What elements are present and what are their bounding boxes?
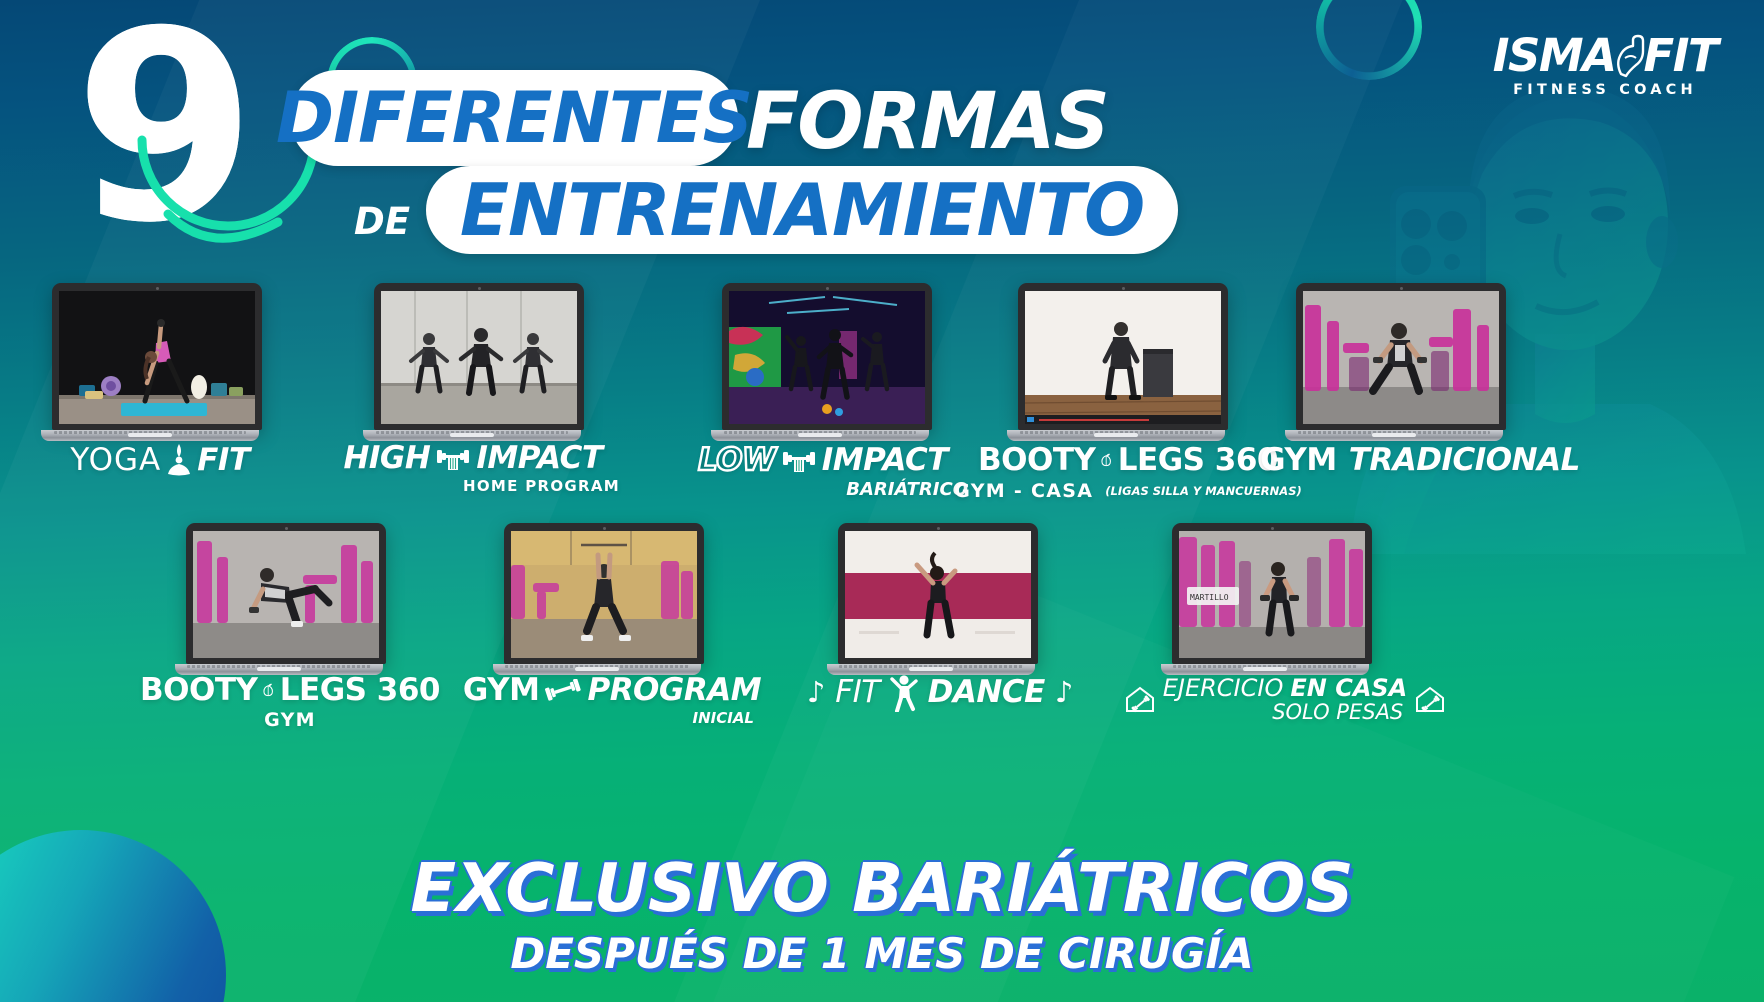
trackpad-notch [1094, 433, 1138, 437]
trackpad-notch [450, 433, 494, 437]
program-label-fit-dance: ♪ FIT DANCE ♪ [790, 672, 1090, 712]
headline-word-entrenamiento: ENTRENAMIENTO [460, 168, 1144, 252]
laptop-lid [1018, 283, 1228, 430]
headline: 9 DIFERENTES FORMAS DE ENTRENAMIENTO [74, 14, 1254, 254]
program-label-yoga-fit: YOGA FIT [10, 442, 310, 478]
program-label-gym-tradicional: GYM TRADICIONAL [1270, 442, 1570, 478]
svg-text:MARTILLO: MARTILLO [1190, 593, 1229, 602]
video-thumbnail-low-impact[interactable] [729, 291, 925, 424]
laptop-lid [504, 523, 704, 664]
bottom-banner: EXCLUSIVO BARIÁTRICOS DESPUÉS DE 1 MES D… [0, 849, 1764, 978]
trackpad-notch [1243, 667, 1287, 671]
program-title-plain: GYM [463, 672, 540, 708]
program-title-italic: EN CASA [1290, 674, 1407, 702]
program-title-plain: BOOTY [978, 442, 1095, 478]
laptop-lid [722, 283, 932, 430]
promotional-poster: 9 DIFERENTES FORMAS DE ENTRENAMIENTO ISM… [0, 0, 1764, 1002]
program-title-plain: EJERCICIO [1163, 674, 1284, 702]
video-thumbnail-gym-program[interactable] [511, 531, 697, 658]
program-label-booty-legs-360-gym: BOOTY LEGS 360 GYM [140, 672, 440, 731]
program-title-plain: YOGA [70, 442, 161, 478]
trackpad-notch [798, 433, 842, 437]
logo-wordmark: ISMA FIT [1490, 32, 1720, 80]
laptop-lid [1296, 283, 1506, 430]
logo-name-isma: ISMA [1493, 32, 1616, 80]
program-title-plain: LOW [698, 442, 776, 478]
peach-icon [1101, 446, 1111, 474]
video-thumbnail-booty-legs-360-casa[interactable] [1025, 291, 1221, 424]
video-thumbnail-booty-legs-360-gym[interactable] [193, 531, 379, 658]
house-with-dumbbell-icon [1125, 685, 1155, 713]
video-thumbnail-yoga-fit[interactable] [59, 291, 255, 424]
trackpad-notch [257, 667, 301, 671]
program-label-gym-program: GYM PROGRAM INICIAL [462, 672, 762, 727]
program-label-low-impact: LOW IMPACT BARIÁTRICO [668, 442, 978, 500]
dumbbell-icon [545, 679, 581, 701]
program-title-plain: BOOTY [140, 672, 257, 708]
program-title-italic: IMPACT [822, 442, 948, 478]
decorative-ring-icon [1316, 0, 1422, 80]
laptop-fit-dance [838, 523, 1038, 675]
program-subtitle: BARIÁTRICO [668, 479, 978, 500]
program-title-italic: IMPACT [476, 440, 602, 476]
program-title-italic: TRADICIONAL [1349, 442, 1580, 478]
program-title-plain: GYM [1260, 442, 1337, 478]
video-thumbnail-ejercicio-en-casa[interactable]: MARTILLO [1179, 531, 1365, 658]
banner-headline: EXCLUSIVO BARIÁTRICOS [0, 849, 1764, 927]
laptop-base [1285, 430, 1503, 441]
laptop-yoga-fit [52, 283, 262, 441]
program-title-italic: DANCE [928, 674, 1045, 710]
dancing-person-icon [890, 672, 918, 712]
music-note-icon-left: ♪ [807, 675, 826, 709]
program-title-plain: FIT [835, 674, 879, 710]
webcam-icon [478, 287, 481, 290]
hand-holding-dumbbell-icon [436, 444, 470, 472]
webcam-icon [1122, 287, 1125, 290]
laptop-lid [186, 523, 386, 664]
headline-pill-entrenamiento: ENTRENAMIENTO [426, 166, 1178, 254]
music-note-icon-right: ♪ [1055, 675, 1074, 709]
program-title-italic: FIT [197, 442, 249, 478]
webcam-icon [1271, 527, 1274, 530]
headline-word-diferentes: DIFERENTES [276, 77, 752, 159]
program-label-high-impact: HIGH IMPACT HOME PROGRAM [318, 440, 628, 495]
logo-name-fit: FIT [1644, 32, 1718, 80]
laptop-lid [838, 523, 1038, 664]
webcam-icon [603, 527, 606, 530]
laptop-base [1007, 430, 1225, 441]
video-thumbnail-high-impact[interactable] [381, 291, 577, 424]
video-thumbnail-fit-dance[interactable] [845, 531, 1031, 658]
banner-subheadline: DESPUÉS DE 1 MES DE CIRUGÍA [0, 929, 1764, 978]
laptop-ejercicio-en-casa: MARTILLO [1172, 523, 1372, 675]
laptop-base [711, 430, 929, 441]
program-label-ejercicio-en-casa: EJERCICIO EN CASA SOLO PESAS [1120, 674, 1450, 724]
peach-icon [263, 676, 273, 704]
laptop-gym-tradicional [1296, 283, 1506, 441]
program-subtitle: GYM - CASA [954, 480, 1093, 502]
brand-logo: ISMA FIT FITNESS COACH [1490, 32, 1720, 98]
laptop-gym-program [504, 523, 704, 675]
laptop-low-impact [722, 283, 932, 441]
flexing-arm-icon [1612, 34, 1648, 78]
headline-word-formas: FORMAS [746, 77, 1108, 167]
webcam-icon [826, 287, 829, 290]
program-label-booty-legs-360-casa: BOOTY LEGS 360 GYM - CASA (LIGAS SILLA Y… [978, 442, 1278, 502]
webcam-icon [1400, 287, 1403, 290]
program-title-italic: PROGRAM [587, 672, 761, 708]
webcam-icon [285, 527, 288, 530]
laptop-lid: MARTILLO [1172, 523, 1372, 664]
laptop-booty-legs-360-gym [186, 523, 386, 675]
program-title-italic: LEGS 360 [1118, 442, 1278, 478]
laptop-booty-legs-360-casa [1018, 283, 1228, 441]
program-note: (LIGAS SILLA Y MANCUERNAS) [1105, 484, 1301, 498]
yoga-meditation-icon [167, 443, 191, 477]
trackpad-notch [1372, 433, 1416, 437]
trackpad-notch [909, 667, 953, 671]
program-subtitle: GYM [140, 709, 440, 731]
logo-tagline: FITNESS COACH [1490, 82, 1720, 98]
program-title-italic: LEGS 360 [280, 672, 440, 708]
laptop-base [41, 430, 259, 441]
video-thumbnail-gym-tradicional[interactable] [1303, 291, 1499, 424]
program-subtitle: HOME PROGRAM [318, 477, 628, 495]
webcam-icon [937, 527, 940, 530]
headline-pill-diferentes: DIFERENTES [290, 70, 738, 166]
program-subtitle: INICIAL [462, 709, 762, 727]
trackpad-notch [575, 667, 619, 671]
laptop-high-impact [374, 283, 584, 441]
laptop-lid [374, 283, 584, 430]
house-with-dumbbell-icon [1415, 685, 1445, 713]
headline-word-de: DE [354, 200, 410, 243]
program-title-plain: HIGH [343, 440, 430, 476]
hand-holding-dumbbell-icon [782, 446, 816, 474]
trackpad-notch [128, 433, 172, 437]
webcam-icon [156, 287, 159, 290]
program-subtitle: SOLO PESAS [1163, 700, 1408, 724]
laptop-lid [52, 283, 262, 430]
